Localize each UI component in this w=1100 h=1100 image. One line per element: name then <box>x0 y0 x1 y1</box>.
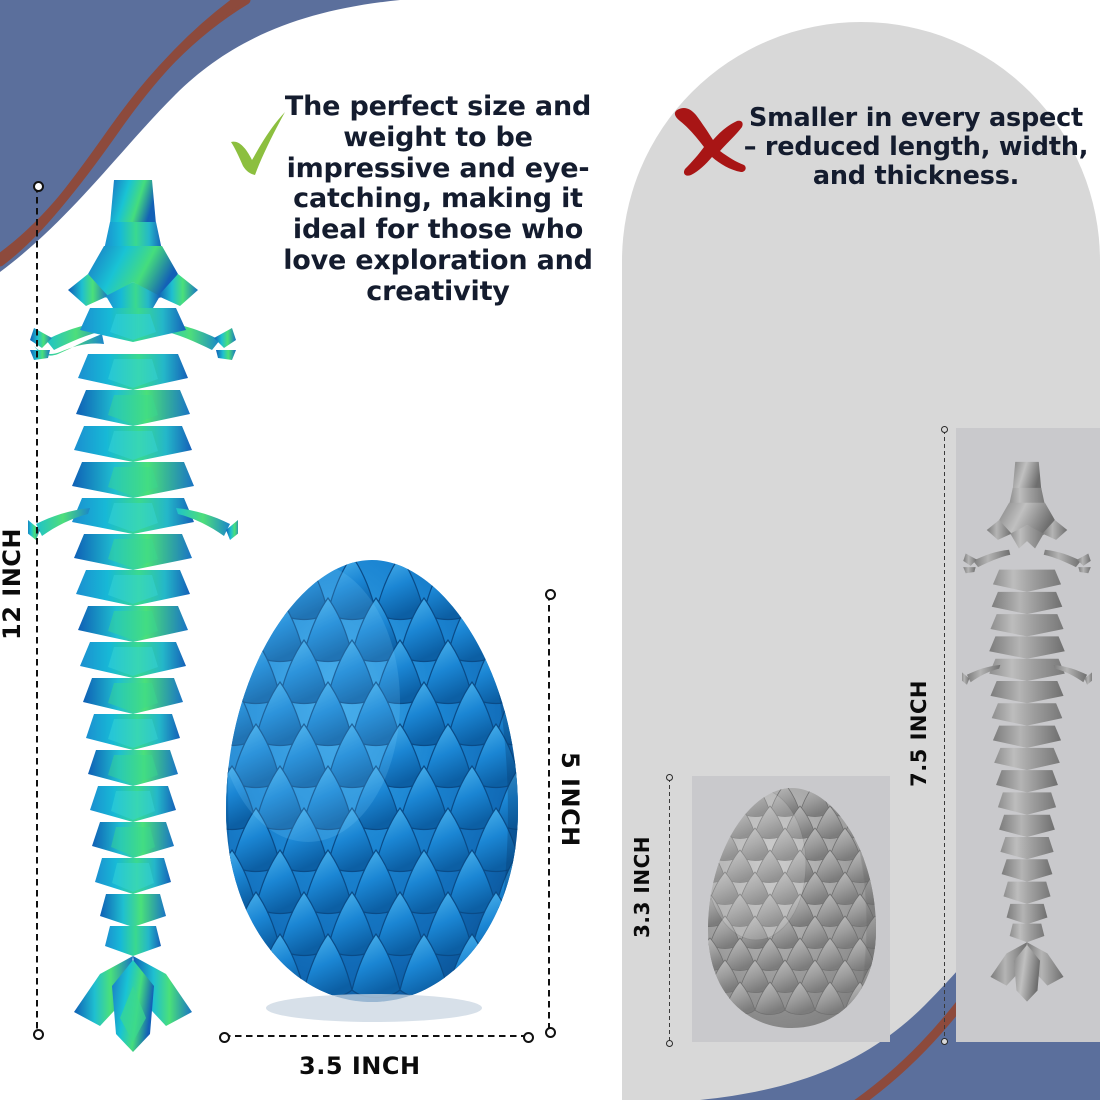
dimension-line-egg-height-good <box>548 594 550 1032</box>
dimension-endcap-gray-dragon-top <box>941 426 948 433</box>
blue-green-articulated-dragon <box>28 178 238 1058</box>
dimension-endcap-egg-top <box>545 589 556 600</box>
gray-dragon-egg <box>700 782 884 1038</box>
dimension-label-dragon-height-good: 12 INCH <box>0 528 26 640</box>
x-icon <box>668 102 750 180</box>
right-headline: Smaller in every aspect – reduced length… <box>742 104 1090 191</box>
dimension-label-egg-width-good: 3.5 INCH <box>299 1052 421 1080</box>
dimension-label-egg-height-good: 5 INCH <box>556 752 584 847</box>
infographic-canvas: The perfect size and weight to be impres… <box>0 0 1100 1100</box>
blue-dragon-egg <box>212 552 532 1032</box>
dimension-label-dragon-height-bad: 7.5 INCH <box>907 680 931 787</box>
dimension-endcap-gray-egg-top <box>666 774 673 781</box>
left-headline: The perfect size and weight to be impres… <box>262 92 614 307</box>
dimension-endcap-egg-bottom <box>545 1027 556 1038</box>
dimension-endcap-bottom <box>33 1029 44 1040</box>
dimension-endcap-gray-egg-bottom <box>666 1040 673 1047</box>
dimension-label-egg-height-bad: 3.3 INCH <box>630 836 654 938</box>
gray-articulated-dragon <box>962 428 1092 1038</box>
dimension-line-egg-width-good <box>224 1035 528 1037</box>
dimension-endcap-egg-right <box>523 1032 534 1043</box>
dimension-line-dragon-height-good <box>36 186 38 1034</box>
dimension-endcap-top <box>33 181 44 192</box>
dimension-endcap-gray-dragon-bottom <box>941 1038 948 1045</box>
dimension-endcap-egg-left <box>219 1032 230 1043</box>
dimension-line-dragon-height-bad <box>944 430 945 1042</box>
dimension-line-egg-height-bad <box>669 778 670 1044</box>
